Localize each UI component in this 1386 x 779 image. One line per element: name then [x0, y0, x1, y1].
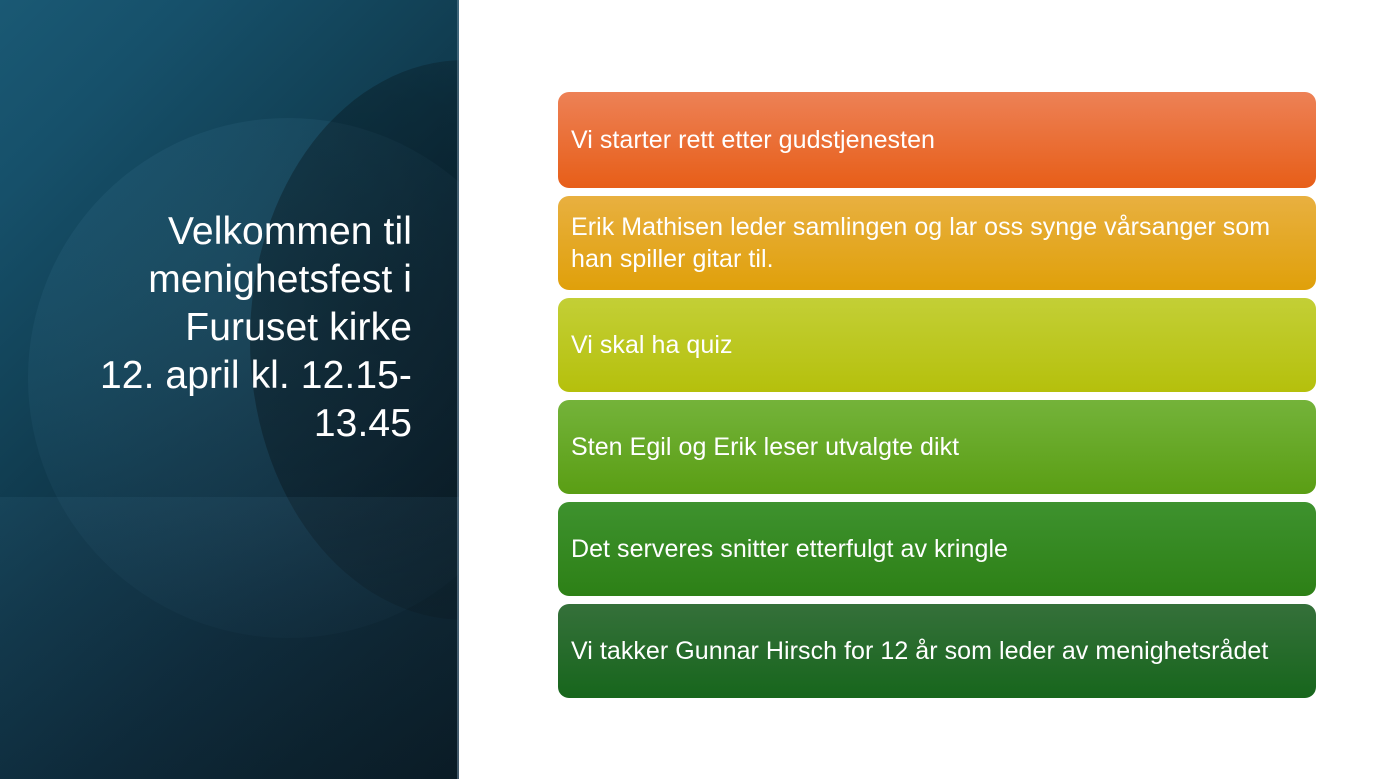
content-bar[interactable]: Vi takker Gunnar Hirsch for 12 år som le…	[558, 604, 1316, 698]
content-bar-label: Vi takker Gunnar Hirsch for 12 år som le…	[571, 635, 1268, 667]
content-bar[interactable]: Erik Mathisen leder samlingen og lar oss…	[558, 196, 1316, 290]
content-bar-list: Vi starter rett etter gudstjenestenErik …	[558, 92, 1316, 706]
panel-lower-band	[0, 497, 459, 779]
presentation-slide: Velkommen til menighetsfest i Furuset ki…	[0, 0, 1386, 779]
title-panel: Velkommen til menighetsfest i Furuset ki…	[0, 0, 459, 779]
content-bar[interactable]: Det serveres snitter etterfulgt av kring…	[558, 502, 1316, 596]
content-bar-label: Erik Mathisen leder samlingen og lar oss…	[571, 211, 1298, 275]
panel-right-edge-rim	[457, 0, 459, 779]
content-bar[interactable]: Sten Egil og Erik leser utvalgte dikt	[558, 400, 1316, 494]
slide-title: Velkommen til menighetsfest i Furuset ki…	[40, 208, 412, 448]
content-bar-label: Sten Egil og Erik leser utvalgte dikt	[571, 431, 959, 463]
content-bar-label: Vi starter rett etter gudstjenesten	[571, 124, 935, 156]
content-bar-label: Vi skal ha quiz	[571, 329, 733, 361]
content-bar[interactable]: Vi starter rett etter gudstjenesten	[558, 92, 1316, 188]
content-bar-label: Det serveres snitter etterfulgt av kring…	[571, 533, 1008, 565]
content-bar[interactable]: Vi skal ha quiz	[558, 298, 1316, 392]
